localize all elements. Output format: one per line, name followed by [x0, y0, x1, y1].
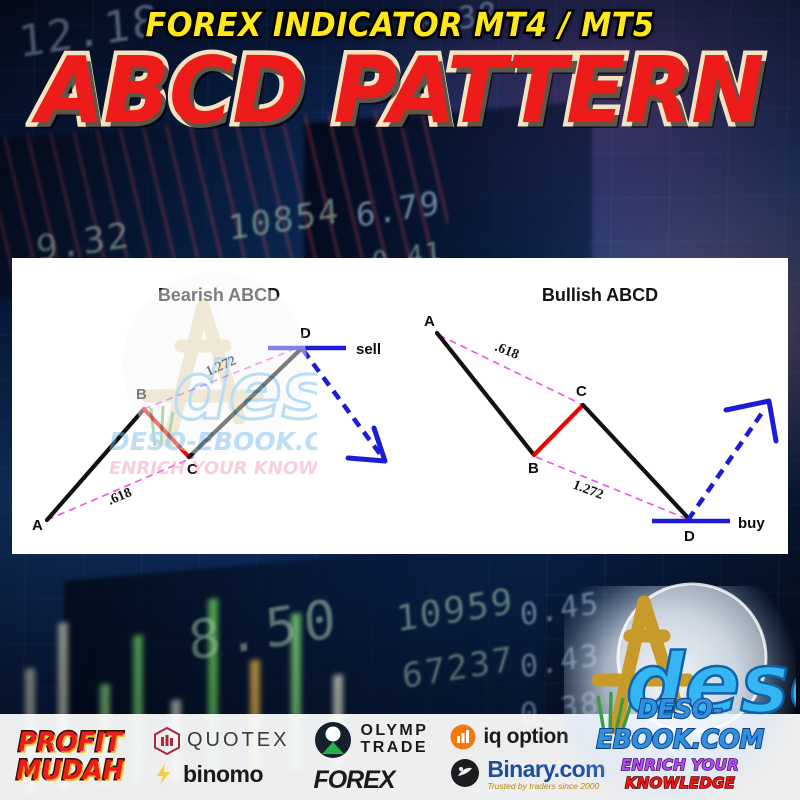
abcd-charts-svg: Bearish ABCD .618 1.272 A B C	[12, 258, 788, 554]
deso-logo[interactable]: deso DESO-EBOOK.COM ENRICH YOUR KNOWLEDG…	[564, 586, 796, 800]
bullish-ratio-label-618: .618	[493, 340, 521, 363]
brand-quotex[interactable]: QUOTEX	[154, 727, 289, 755]
bullish-leg-bc	[534, 405, 583, 455]
bearish-signal-label: sell	[356, 341, 381, 358]
deso-logo-text: DESO-EBOOK.COM ENRICH YOUR KNOWLEDGE	[564, 695, 796, 792]
deso-domain: DESO-EBOOK.COM	[569, 695, 792, 755]
abcd-diagram-card: deso DESO-EBOOK.COM ENRICH YOUR KNOWLEDG…	[12, 258, 788, 554]
bearish-leg-ab	[47, 409, 144, 520]
bearish-point-label-d: D	[300, 325, 311, 342]
bearish-ratio-label-618: .618	[106, 485, 134, 508]
bearish-point-label-b: B	[136, 386, 147, 403]
olymp-line-2: TRADE	[360, 739, 428, 756]
bullish-chart-title: Bullish ABCD	[542, 285, 658, 305]
bullish-signal-label: buy	[738, 515, 765, 532]
bullish-ratio-line-1272	[536, 457, 692, 521]
poster-root: 12.18 0.38 9.32 10854 6.79 0.41 8.50 109…	[0, 0, 800, 800]
bullish-point-label-c: C	[576, 383, 587, 400]
bullish-point-label-a: A	[424, 313, 435, 330]
binomo-bolt-icon	[154, 761, 176, 787]
olymp-line-1: OLYMP	[360, 722, 428, 739]
brand-binomo[interactable]: binomo	[154, 761, 289, 788]
bullish-point-label-d: D	[684, 528, 695, 545]
brand-column-1: QUOTEX binomo	[154, 727, 289, 788]
bearish-signal-arrow-shaft	[303, 350, 380, 454]
bearish-chart: Bearish ABCD .618 1.272 A B C	[32, 285, 385, 534]
bearish-point-label-a: A	[32, 517, 43, 534]
brand-name-olymp-trade: OLYMP TRADE	[360, 723, 428, 757]
profit-line-1: PROFIT	[4, 729, 136, 757]
brand-name-forex: FOREX	[313, 766, 394, 795]
bearish-leg-bc	[144, 409, 189, 457]
header: FOREX INDICATOR MT4 / MT5 ABCD PATTERN	[0, 6, 800, 136]
brand-olymp-trade[interactable]: OLYMP TRADE	[313, 720, 428, 760]
brand-column-2: OLYMP TRADE FOREX	[313, 720, 428, 795]
olymp-circle-icon	[313, 720, 353, 760]
brand-name-quotex: QUOTEX	[187, 729, 289, 752]
bearish-point-label-c: C	[187, 461, 198, 478]
bullish-point-label-b: B	[528, 460, 539, 477]
bearish-ratio-line-1272	[144, 346, 302, 409]
page-title: ABCD PATTERN	[20, 46, 780, 136]
bullish-leg-cd	[583, 405, 691, 521]
bullish-signal-arrow-head	[726, 401, 776, 441]
bullish-ratio-label-1272: 1.272	[571, 478, 606, 503]
bullish-chart: Bullish ABCD .618 1.272 A B C	[424, 285, 776, 545]
iq-bars-icon	[450, 724, 476, 750]
bullish-signal-arrow-shaft	[688, 410, 764, 520]
deso-tagline: ENRICH YOUR KNOWLEDGE	[564, 756, 796, 792]
profit-line-2: MUDAH	[4, 757, 136, 785]
brand-name-binomo: binomo	[183, 761, 263, 788]
bearish-chart-title: Bearish ABCD	[158, 285, 280, 305]
profit-mudah-badge: PROFIT MUDAH	[4, 729, 136, 784]
deso-tagline-part2: KNOWLEDGE	[625, 774, 735, 792]
binary-globe-icon	[450, 758, 480, 788]
deso-tagline-part1: ENRICH YOUR	[621, 756, 739, 774]
brand-name-iq-option: iq option	[483, 725, 568, 749]
quotex-hex-icon	[154, 727, 180, 755]
bearish-ratio-label-1272: 1.272	[204, 354, 239, 380]
brand-forex[interactable]: FOREX	[313, 766, 428, 795]
